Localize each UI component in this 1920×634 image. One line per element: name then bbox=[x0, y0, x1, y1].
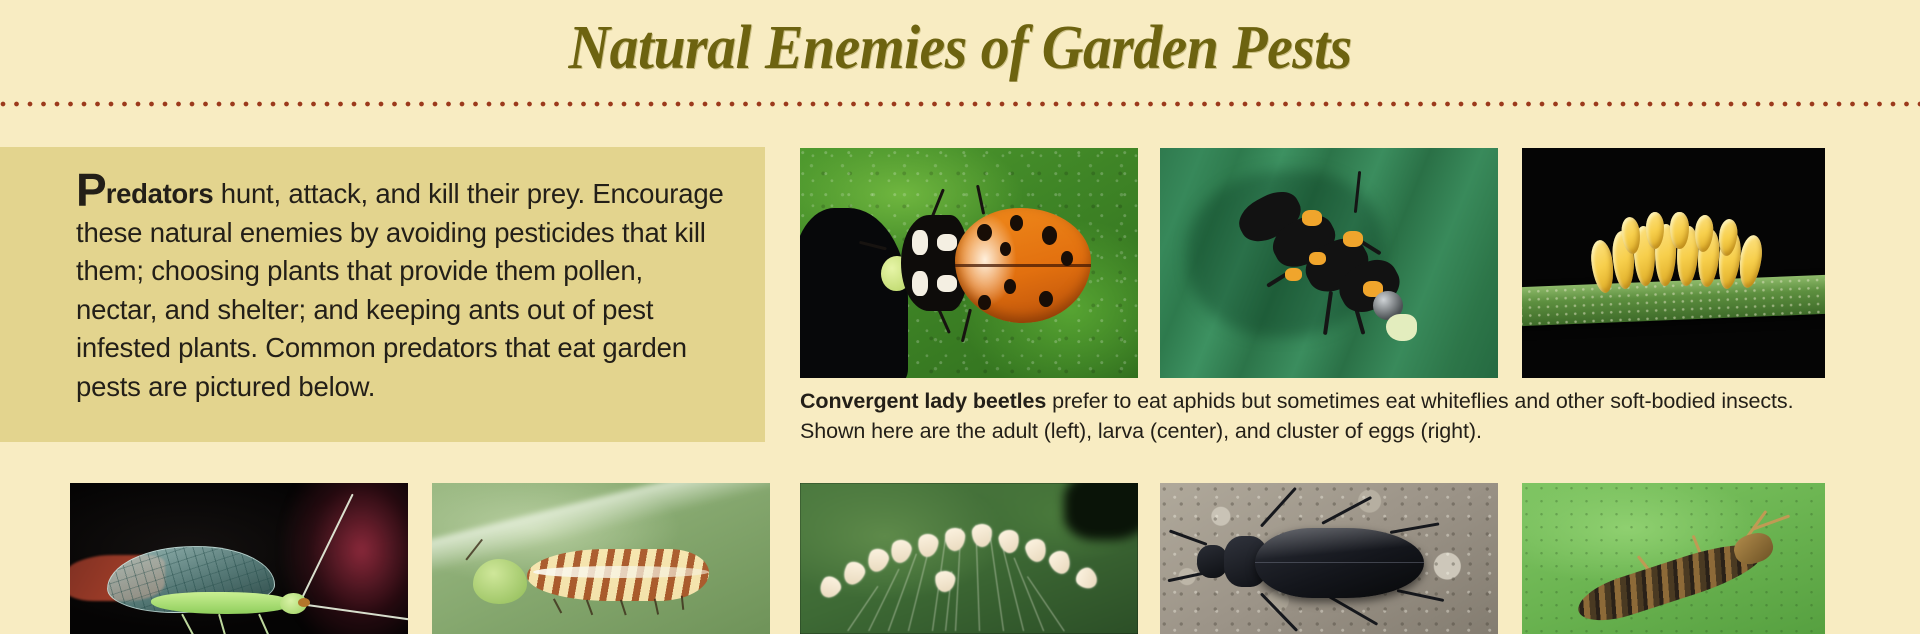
photo-rove-beetle-larva[interactable] bbox=[1522, 483, 1825, 634]
page-title: Natural Enemies of Garden Pests bbox=[568, 13, 1351, 84]
leaf-fuzz-texture bbox=[1522, 275, 1825, 327]
beetle-head bbox=[1197, 545, 1227, 578]
leaf-edge bbox=[1522, 275, 1825, 327]
larva-orange-marking bbox=[1309, 252, 1326, 266]
larva-bristle bbox=[587, 600, 594, 616]
lacewing-egg bbox=[1073, 564, 1102, 593]
caption-lead: Convergent lady beetles bbox=[800, 389, 1046, 413]
photo-ground-beetle[interactable] bbox=[1160, 483, 1498, 634]
lacewing-egg bbox=[917, 533, 940, 558]
beetle-spot bbox=[1004, 279, 1016, 294]
dark-foliage-patch bbox=[1064, 483, 1138, 540]
beetle-elytra bbox=[1255, 528, 1424, 597]
dark-background bbox=[70, 483, 408, 634]
pronotum-marking bbox=[937, 275, 957, 292]
beetle-spot bbox=[1039, 291, 1053, 307]
photo-convergent-lady-beetle-eggs[interactable] bbox=[1522, 148, 1825, 378]
predators-lead-word: redators bbox=[106, 178, 214, 209]
lacewing-egg bbox=[1024, 537, 1049, 564]
photo-green-lacewing-larva[interactable] bbox=[432, 483, 770, 634]
page-header: Natural Enemies of Garden Pests bbox=[0, 0, 1920, 96]
grass-blade-background bbox=[1160, 148, 1498, 378]
predators-paragraph: Predators hunt, attack, and kill their p… bbox=[76, 175, 725, 406]
lacewing-egg bbox=[840, 558, 868, 587]
egg-stalk bbox=[847, 586, 879, 632]
egg-stalk bbox=[868, 568, 900, 631]
lacewing-eye bbox=[298, 598, 309, 607]
predators-body-text: hunt, attack, and kill their prey. Encou… bbox=[76, 178, 724, 402]
lacewing-egg bbox=[945, 528, 966, 552]
lady-beetle-caption: Convergent lady beetles prefer to eat ap… bbox=[800, 386, 1845, 446]
lacewing-leg bbox=[258, 613, 272, 634]
beetle-elytra bbox=[955, 208, 1090, 323]
larva-bristle bbox=[654, 598, 659, 614]
leaf-speckle-texture bbox=[1522, 483, 1825, 634]
aphid-prey bbox=[1386, 314, 1416, 342]
beetle-spot bbox=[1042, 226, 1057, 244]
lacewing-egg bbox=[816, 573, 845, 602]
dropcap-letter: P bbox=[76, 164, 106, 216]
lacewing-egg bbox=[1047, 548, 1074, 577]
pronotum-marking bbox=[937, 234, 957, 251]
pale-leaf-background bbox=[432, 483, 770, 634]
predators-panel: Predators hunt, attack, and kill their p… bbox=[0, 147, 765, 442]
larva-bristle bbox=[681, 595, 684, 609]
lacewing-egg bbox=[889, 538, 914, 565]
beetle-spot bbox=[1010, 215, 1024, 231]
beetle-spot bbox=[1000, 242, 1011, 256]
content-sheet: Predators hunt, attack, and kill their p… bbox=[0, 110, 1920, 634]
larva-orange-marking bbox=[1302, 210, 1322, 226]
larva-orange-marking bbox=[1343, 231, 1363, 247]
beetle-spot bbox=[978, 295, 990, 310]
larva-orange-marking bbox=[1285, 268, 1302, 282]
lacewing-egg bbox=[998, 528, 1021, 553]
pronotum-marking bbox=[912, 271, 928, 296]
lady-beetle-egg bbox=[1670, 212, 1688, 249]
black-background bbox=[1522, 148, 1825, 378]
photo-convergent-lady-beetle-adult[interactable] bbox=[800, 148, 1138, 378]
photo-green-lacewing-eggs[interactable] bbox=[800, 483, 1138, 634]
blurred-foliage-background bbox=[800, 483, 1138, 634]
larva-bristle bbox=[553, 598, 562, 613]
dotted-divider bbox=[0, 101, 1920, 109]
gravel-background bbox=[1160, 483, 1498, 634]
lacewing-leg bbox=[218, 614, 229, 634]
pronotum-marking bbox=[912, 230, 928, 255]
egg-stalk bbox=[888, 554, 917, 631]
fresh-leaf-background bbox=[1522, 483, 1825, 634]
aphid-prey bbox=[473, 559, 527, 604]
photo-convergent-lady-beetle-larva[interactable] bbox=[1160, 148, 1498, 378]
larva-bristle bbox=[621, 600, 627, 616]
leaf-background bbox=[800, 148, 1138, 378]
egg-stalk bbox=[1001, 543, 1024, 631]
elytra-seam bbox=[1255, 562, 1424, 564]
lacewing-leg bbox=[181, 613, 200, 634]
lacewing-egg bbox=[864, 547, 891, 575]
photo-green-lacewing-adult[interactable] bbox=[70, 483, 408, 634]
beetle-spot bbox=[977, 224, 992, 241]
